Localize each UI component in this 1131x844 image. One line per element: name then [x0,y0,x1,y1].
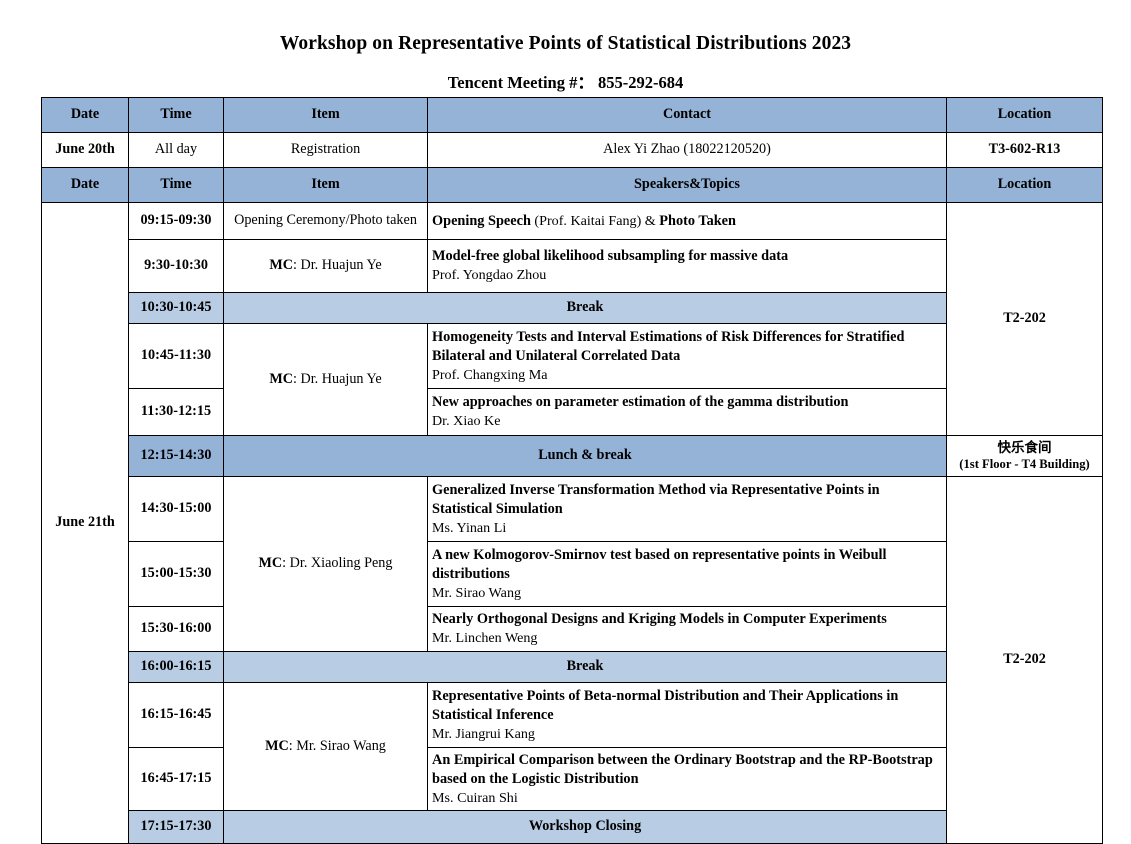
column-header-time: Time [129,98,224,133]
table-row-talk-6: 15:30-16:00 Nearly Orthogonal Designs an… [42,607,1103,652]
opening-speech-bold-2: Photo Taken [659,213,736,229]
session-talk-2: Homogeneity Tests and Interval Estimatio… [428,324,947,389]
break-label-afternoon: Break [224,652,947,683]
column-header-date-2: Date [42,168,129,203]
session-talk-6: Nearly Orthogonal Designs and Kriging Mo… [428,607,947,652]
mc-morning-1-name: Dr. Huajun Ye [300,257,381,273]
table-row-talk-5: 15:00-15:30 A new Kolmogorov-Smirnov tes… [42,542,1103,607]
table-row-talk-8: 16:45-17:15 An Empirical Comparison betw… [42,748,1103,811]
talk-6-speaker: Mr. Linchen Weng [432,629,942,648]
time-0930-1030: 9:30-10:30 [129,240,224,293]
location-lunch: 快乐食间 (1st Floor - T4 Building) [947,436,1103,477]
location-afternoon: T2-202 [947,477,1103,844]
location-lunch-cn: 快乐食间 [951,440,1098,457]
session-talk-1: Model-free global likelihood subsampling… [428,240,947,293]
talk-7-title: Representative Points of Beta-normal Dis… [432,687,942,725]
session-talk-3: New approaches on parameter estimation o… [428,389,947,436]
meeting-subtitle: Tencent Meeting #： 855-292-684 [0,55,1131,93]
mc-prefix-label-2: MC [269,371,293,387]
talk-5-title: A new Kolmogorov-Smirnov test based on r… [432,546,942,584]
time-1045-1130: 10:45-11:30 [129,324,224,389]
opening-speech-regular: (Prof. Kaitai Fang) & [531,213,659,229]
time-1430-1500: 14:30-15:00 [129,477,224,542]
day2-date: June 21th [42,203,129,844]
table-header-row-day2: Date Time Item Speakers&Topics Location [42,168,1103,203]
session-talk-4: Generalized Inverse Transformation Metho… [428,477,947,542]
talk-3-title: New approaches on parameter estimation o… [432,393,942,412]
session-talk-8: An Empirical Comparison between the Ordi… [428,748,947,811]
table-row-lunch: 12:15-14:30 Lunch & break 快乐食间 (1st Floo… [42,436,1103,477]
time-1600-1615: 16:00-16:15 [129,652,224,683]
time-1500-1530: 15:00-15:30 [129,542,224,607]
session-talk-5: A new Kolmogorov-Smirnov test based on r… [428,542,947,607]
registration-contact: Alex Yi Zhao (18022120520) [428,133,947,168]
column-header-date: Date [42,98,129,133]
talk-8-title: An Empirical Comparison between the Ordi… [432,751,942,789]
table-row-talk-7: 16:15-16:45 MC: Mr. Sirao Wang Represent… [42,683,1103,748]
time-1530-1600: 15:30-16:00 [129,607,224,652]
column-header-location-2: Location [947,168,1103,203]
talk-8-speaker: Ms. Cuiran Shi [432,789,942,808]
time-1130-1215: 11:30-12:15 [129,389,224,436]
table-row-registration: June 20th All day Registration Alex Yi Z… [42,133,1103,168]
talk-7-speaker: Mr. Jiangrui Kang [432,725,942,744]
location-morning: T2-202 [947,203,1103,436]
time-1615-1645: 16:15-16:45 [129,683,224,748]
table-row-talk-1: 9:30-10:30 MC: Dr. Huajun Ye Model-free … [42,240,1103,293]
column-header-location: Location [947,98,1103,133]
talk-5-speaker: Mr. Sirao Wang [432,584,942,603]
talk-2-speaker: Prof. Changxing Ma [432,366,942,385]
column-header-item: Item [224,98,428,133]
registration-item: Registration [224,133,428,168]
mc-prefix-label: MC [269,257,293,273]
mc-morning-2-name: Dr. Huajun Ye [300,371,381,387]
mc-prefix-label-3: MC [259,555,283,571]
mc-separator-3: : [282,555,290,571]
registration-time: All day [129,133,224,168]
time-1715-1730: 17:15-17:30 [129,811,224,844]
time-1215-1430: 12:15-14:30 [129,436,224,477]
mc-morning-1: MC: Dr. Huajun Ye [224,240,428,293]
opening-speech-bold-1: Opening Speech [432,213,531,229]
mc-morning-2: MC: Dr. Huajun Ye [224,324,428,436]
break-label-morning: Break [224,293,947,324]
column-header-time-2: Time [129,168,224,203]
schedule-table: Date Time Item Contact Location June 20t… [41,97,1103,844]
table-row-talk-3: 11:30-12:15 New approaches on parameter … [42,389,1103,436]
registration-location: T3-602-R13 [947,133,1103,168]
closing-label: Workshop Closing [224,811,947,844]
time-1645-1715: 16:45-17:15 [129,748,224,811]
page-title: Workshop on Representative Points of Sta… [0,0,1131,55]
talk-3-speaker: Dr. Xiao Ke [432,412,942,431]
table-row-talk-4: 14:30-15:00 MC: Dr. Xiaoling Peng Genera… [42,477,1103,542]
time-1030-1045: 10:30-10:45 [129,293,224,324]
column-header-contact: Contact [428,98,947,133]
schedule-page: Workshop on Representative Points of Sta… [0,0,1131,823]
talk-2-title: Homogeneity Tests and Interval Estimatio… [432,328,942,366]
mc-afternoon-1-name: Dr. Xiaoling Peng [290,555,393,571]
talk-6-title: Nearly Orthogonal Designs and Kriging Mo… [432,610,942,629]
table-row-closing: 17:15-17:30 Workshop Closing [42,811,1103,844]
table-row-opening-ceremony: June 21th 09:15-09:30 Opening Ceremony/P… [42,203,1103,240]
mc-afternoon-2-name: Mr. Sirao Wang [296,738,386,754]
lunch-label: Lunch & break [224,436,947,477]
talk-1-speaker: Prof. Yongdao Zhou [432,266,942,285]
column-header-item-2: Item [224,168,428,203]
talk-4-title: Generalized Inverse Transformation Metho… [432,481,942,519]
registration-date: June 20th [42,133,129,168]
table-header-row-day1: Date Time Item Contact Location [42,98,1103,133]
talk-4-speaker: Ms. Yinan Li [432,519,942,538]
talk-1-title: Model-free global likelihood subsampling… [432,247,942,266]
item-opening-ceremony: Opening Ceremony/Photo taken [224,203,428,240]
schedule-table-container: Date Time Item Contact Location June 20t… [41,97,1102,844]
table-row-talk-2: 10:45-11:30 MC: Dr. Huajun Ye Homogeneit… [42,324,1103,389]
mc-afternoon-1: MC: Dr. Xiaoling Peng [224,477,428,652]
session-opening-speech: Opening Speech (Prof. Kaitai Fang) & Pho… [428,203,947,240]
table-row-break-afternoon: 16:00-16:15 Break [42,652,1103,683]
time-0915-0930: 09:15-09:30 [129,203,224,240]
table-row-break-morning: 10:30-10:45 Break [42,293,1103,324]
session-talk-7: Representative Points of Beta-normal Dis… [428,683,947,748]
mc-afternoon-2: MC: Mr. Sirao Wang [224,683,428,811]
location-lunch-detail: (1st Floor - T4 Building) [951,457,1098,473]
column-header-speakers-topics: Speakers&Topics [428,168,947,203]
mc-prefix-label-4: MC [265,738,289,754]
